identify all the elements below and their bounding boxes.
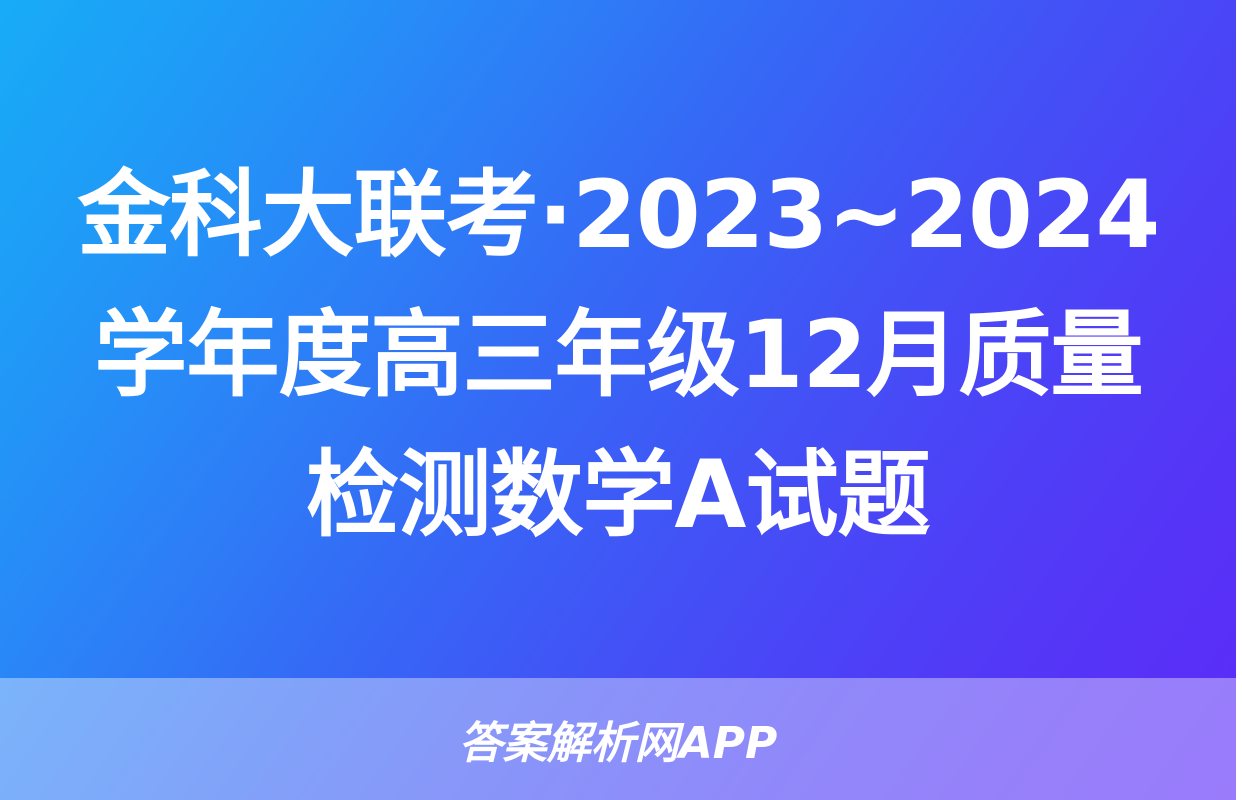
watermark-label: 答案解析网APP [0,678,1236,800]
poster-container: 金科大联考·2023~2024 学年度高三年级12月质量 检测数学A试题 答案解… [0,0,1242,800]
right-edge-strip [1236,0,1242,800]
title-line-1: 金科大联考·2023~2024 [77,146,1159,286]
title-line-2: 学年度高三年级12月质量 [94,286,1142,426]
title-block: 金科大联考·2023~2024 学年度高三年级12月质量 检测数学A试题 [0,0,1236,678]
title-line-3: 检测数学A试题 [306,426,929,566]
